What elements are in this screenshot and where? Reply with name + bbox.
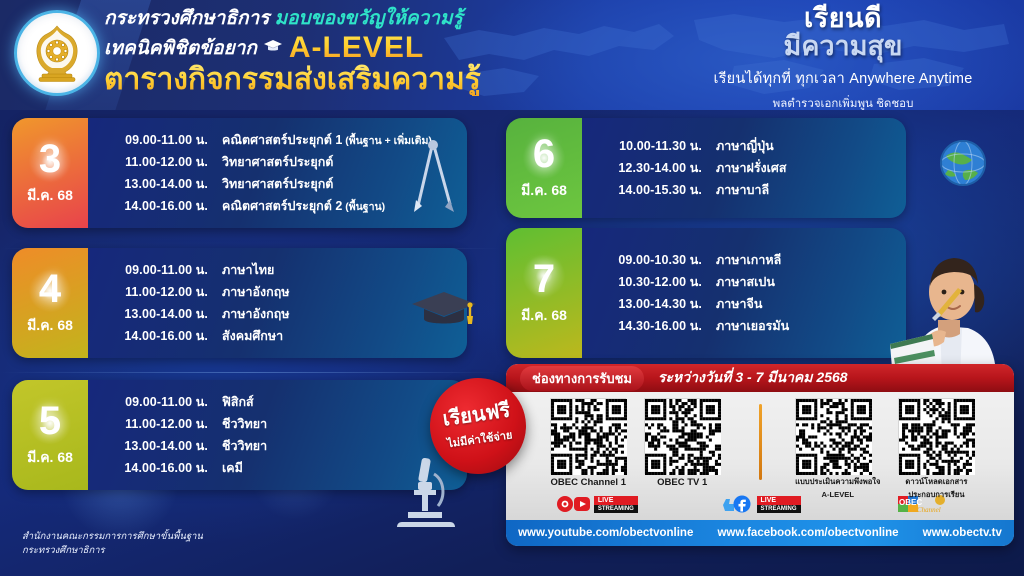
qr-code-image[interactable] [550,398,626,474]
graduation-cap-icon [263,39,283,58]
session-time: 14.00-16.00 น. [100,326,208,346]
streaming-label: STREAMING [757,505,801,513]
qr-label-secondary: ประกอบการเรียน [898,491,974,500]
date-badge-day: 6 [533,134,555,174]
session-row: 09.00-10.30 น.ภาษาเกาหลี [594,250,906,270]
session-time: 13.00-14.30 น. [594,294,702,314]
title-line-3: ตารางกิจกรรมส่งเสริมความรู้ [104,63,574,96]
youtube-url[interactable]: www.youtube.com/obectvonline [518,527,693,539]
date-badge-7: 7มี.ค. 68 [506,228,582,358]
channels-header-dates: ระหว่างวันที่ 3 - 7 มีนาคม 2568 [658,367,848,389]
session-subject: วิทยาศาสตร์ประยุกต์ [222,174,333,194]
session-list: 10.00-11.30 น.ภาษาญี่ปุ่น12.30-14.00 น.ภ… [594,136,906,200]
brand-line-1: เรียนดี [688,6,998,32]
poster-root: กระทรวงศึกษาธิการ มอบของขวัญให้ความรู้ เ… [0,0,1024,576]
session-row: 11.00-12.00 น.ชีววิทยา [100,414,467,434]
session-time: 09.00-11.00 น. [100,260,208,280]
session-time: 13.00-14.00 น. [100,436,208,456]
session-time: 14.00-15.30 น. [594,180,702,200]
date-badge-month: มี.ค. 68 [27,315,73,337]
session-row: 14.30-16.00 น.ภาษาเยอรมัน [594,316,906,336]
session-time: 10.00-11.30 น. [594,136,702,156]
title-gift: มอบของขวัญให้ความรู้ [275,8,463,29]
header-title-block: กระทรวงศึกษาธิการ มอบของขวัญให้ความรู้ เ… [104,8,574,96]
session-subject: ชีววิทยา [222,414,267,434]
qr-code-image[interactable] [644,398,720,474]
session-subject: ภาษาบาลี [716,180,769,200]
session-row: 11.00-12.00 น.ภาษาอังกฤษ [100,282,467,302]
session-time: 13.00-14.00 น. [100,174,208,194]
session-row: 12.30-14.00 น.ภาษาฝรั่งเศส [594,158,906,178]
date-badge-6: 6มี.ค. 68 [506,118,582,218]
session-subject: ภาษาจีน [716,294,762,314]
youtube-icon [557,495,591,513]
qr-label: OBEC Channel 1 [550,478,626,489]
session-subject: ภาษาญี่ปุ่น [716,136,774,156]
session-time: 09.00-11.00 น. [100,130,208,150]
session-subject: ภาษาไทย [222,260,274,280]
date-badge-day: 5 [39,401,61,441]
session-time: 09.00-10.30 น. [594,250,702,270]
qr-cell[interactable]: แบบประเมินความพึงพอใจA-LEVEL [795,398,880,490]
session-row: 13.00-14.00 น.วิทยาศาสตร์ประยุกต์ [100,174,467,194]
title-alevel: A-LEVEL [289,31,424,65]
schedule-card-day-6: 6มี.ค. 6810.00-11.30 น.ภาษาญี่ปุ่น12.30-… [506,118,906,218]
svg-text:Channel: Channel [917,506,941,514]
title-ministry: กระทรวงศึกษาธิการ [104,8,269,29]
facebook-social[interactable]: LIVE STREAMING [720,495,801,513]
date-badge-day: 7 [533,259,555,299]
brand-line-2: มีความสุข [688,34,998,60]
date-badge-3: 3มี.ค. 68 [12,118,88,228]
session-time: 09.00-11.00 น. [100,392,208,412]
live-streaming-tag: LIVE STREAMING [594,496,638,513]
session-subject: ภาษาฝรั่งเศส [716,158,787,178]
light-streak [0,372,500,373]
session-time: 11.00-12.00 น. [100,414,208,434]
session-subject: สังคมศึกษา [222,326,283,346]
qr-group-right: แบบประเมินความพึงพอใจA-LEVELดาวน์โหลดเอก… [766,398,1005,490]
session-row: 14.00-16.00 น.เคมี [100,458,467,478]
qr-cell[interactable]: OBEC Channel 1 [550,398,626,490]
facebook-icon [720,495,754,513]
session-time: 11.00-12.00 น. [100,152,208,172]
session-time: 12.30-14.00 น. [594,158,702,178]
brand-block: เรียนดี มีความสุข เรียนได้ทุกที่ ทุกเวลา… [688,6,998,110]
session-time: 14.00-16.00 น. [100,458,208,478]
url-bar: www.youtube.com/obectvonline www.faceboo… [506,520,1014,546]
session-list: 09.00-11.00 น.ภาษาไทย11.00-12.00 น.ภาษาอ… [100,260,467,346]
schedule-card-day-7: 7มี.ค. 6809.00-10.30 น.ภาษาเกาหลี10.30-1… [506,228,906,358]
date-badge-month: มี.ค. 68 [27,447,73,469]
session-row: 10.30-12.00 น.ภาษาสเปน [594,272,906,292]
facebook-url[interactable]: www.facebook.com/obectvonline [717,527,898,539]
free-badge-line-2: ไม่มีค่าใช้จ่าย [446,425,513,452]
free-badge-line-1: เรียนฟรี [441,400,511,429]
date-badge-5: 5มี.ค. 68 [12,380,88,490]
session-row: 13.00-14.00 น.ภาษาอังกฤษ [100,304,467,324]
qr-label: ดาวน์โหลดเอกสาร [898,478,974,487]
obectv-url[interactable]: www.obectv.tv [923,527,1002,539]
live-streaming-tag: LIVE STREAMING [757,496,801,513]
session-row: 13.00-14.30 น.ภาษาจีน [594,294,906,314]
session-subject: ภาษาเยอรมัน [716,316,789,336]
qr-group-left: OBEC Channel 1OBEC TV 1 [516,398,755,490]
schedule-card-body: 09.00-11.00 น.ฟิสิกส์11.00-12.00 น.ชีววิ… [88,380,467,490]
session-subject: ภาษาอังกฤษ [222,282,290,302]
title-technique: เทคนิคพิชิตข้อยาก [104,33,257,63]
streaming-label: STREAMING [594,505,638,513]
session-row: 09.00-11.00 น.คณิตศาสตร์ประยุกต์ 1 (พื้น… [100,130,467,150]
date-badge-4: 4มี.ค. 68 [12,248,88,358]
qr-divider [759,404,762,480]
session-subject: เคมี [222,458,243,478]
session-subject: ภาษาสเปน [716,272,775,292]
session-subject: วิทยาศาสตร์ประยุกต์ [222,152,333,172]
schedule-card-body: 09.00-11.00 น.คณิตศาสตร์ประยุกต์ 1 (พื้น… [88,118,467,228]
youtube-social[interactable]: LIVE STREAMING [557,495,638,513]
session-subject: ภาษาเกาหลี [716,250,781,270]
schedule-card-day-4: 4มี.ค. 6809.00-11.00 น.ภาษาไทย11.00-12.0… [12,248,467,358]
session-list: 09.00-11.00 น.ฟิสิกส์11.00-12.00 น.ชีววิ… [100,392,467,478]
channels-header: ช่องทางการรับชม ระหว่างวันที่ 3 - 7 มีนา… [506,364,1014,392]
session-subject: ฟิสิกส์ [222,392,254,412]
live-label: LIVE [757,496,801,505]
footer-line-1: สำนักงานคณะกรรมการการศึกษาขั้นพื้นฐาน [22,530,203,544]
schedule-card-body: 10.00-11.30 น.ภาษาญี่ปุ่น12.30-14.00 น.ภ… [582,118,906,218]
session-subject: ชีววิทยา [222,436,267,456]
qr-cell[interactable]: OBEC TV 1 [644,398,720,490]
session-row: 14.00-16.00 น.คณิตศาสตร์ประยุกต์ 2 (พื้น… [100,196,467,216]
channels-panel: ช่องทางการรับชม ระหว่างวันที่ 3 - 7 มีนา… [506,364,1014,546]
session-row: 14.00-15.30 น.ภาษาบาลี [594,180,906,200]
minister-name: พลตำรวจเอกเพิ่มพูน ชิดชอบ [688,95,998,110]
session-subject: คณิตศาสตร์ประยุกต์ 1 (พื้นฐาน + เพิ่มเติ… [222,130,432,150]
session-time: 11.00-12.00 น. [100,282,208,302]
session-row: 10.00-11.30 น.ภาษาญี่ปุ่น [594,136,906,156]
footer-line-2: กระทรวงศึกษาธิการ [22,544,203,558]
title-line-2: เทคนิคพิชิตข้อยาก A-LEVEL [104,31,574,65]
footer-note: สำนักงานคณะกรรมการการศึกษาขั้นพื้นฐาน กร… [22,530,203,559]
live-label: LIVE [594,496,638,505]
session-row: 11.00-12.00 น.วิทยาศาสตร์ประยุกต์ [100,152,467,172]
schedule-card-body: 09.00-11.00 น.ภาษาไทย11.00-12.00 น.ภาษาอ… [88,248,467,358]
qr-label: แบบประเมินความพึงพอใจ [795,478,880,487]
channels-header-pill: ช่องทางการรับชม [520,366,644,391]
date-badge-day: 4 [39,269,61,309]
session-time: 10.30-12.00 น. [594,272,702,292]
session-list: 09.00-11.00 น.คณิตศาสตร์ประยุกต์ 1 (พื้น… [100,130,467,216]
schedule-card-day-3: 3มี.ค. 6809.00-11.00 น.คณิตศาสตร์ประยุกต… [12,118,467,228]
date-badge-day: 3 [39,139,61,179]
date-badge-month: มี.ค. 68 [27,185,73,207]
session-list: 09.00-10.30 น.ภาษาเกาหลี10.30-12.00 น.ภา… [594,250,906,336]
qr-cell[interactable]: ดาวน์โหลดเอกสารประกอบการเรียน [898,398,974,490]
brand-tagline: เรียนได้ทุกที่ ทุกเวลา Anywhere Anytime [688,67,998,90]
session-row: 09.00-11.00 น.ภาษาไทย [100,260,467,280]
ministry-emblem-icon [14,10,100,96]
qr-area: OBEC Channel 1OBEC TV 1 แบบประเมินความพึ… [506,392,1014,490]
qr-label: OBEC TV 1 [644,478,720,489]
session-time: 13.00-14.00 น. [100,304,208,324]
session-row: 13.00-14.00 น.ชีววิทยา [100,436,467,456]
schedule-card-body: 09.00-10.30 น.ภาษาเกาหลี10.30-12.00 น.ภา… [582,228,906,358]
session-time: 14.30-16.00 น. [594,316,702,336]
title-line-1: กระทรวงศึกษาธิการ มอบของขวัญให้ความรู้ [104,8,574,30]
session-subject: ภาษาอังกฤษ [222,304,290,324]
session-time: 14.00-16.00 น. [100,196,208,216]
date-badge-month: มี.ค. 68 [521,180,567,202]
session-subject-note: (พื้นฐาน) [342,201,385,213]
session-row: 14.00-16.00 น.สังคมศึกษา [100,326,467,346]
qr-code-image[interactable] [795,398,871,474]
globe-decor-icon [938,138,988,188]
page-header: กระทรวงศึกษาธิการ มอบของขวัญให้ความรู้ เ… [0,0,1024,110]
session-subject: คณิตศาสตร์ประยุกต์ 2 (พื้นฐาน) [222,196,385,216]
session-subject-note: (พื้นฐาน + เพิ่มเติม) [342,135,432,147]
date-badge-month: มี.ค. 68 [521,305,567,327]
qr-label-secondary: A-LEVEL [795,491,880,500]
session-row: 09.00-11.00 น.ฟิสิกส์ [100,392,467,412]
qr-code-image[interactable] [898,398,974,474]
schedule-card-day-5: 5มี.ค. 6809.00-11.00 น.ฟิสิกส์11.00-12.0… [12,380,467,490]
